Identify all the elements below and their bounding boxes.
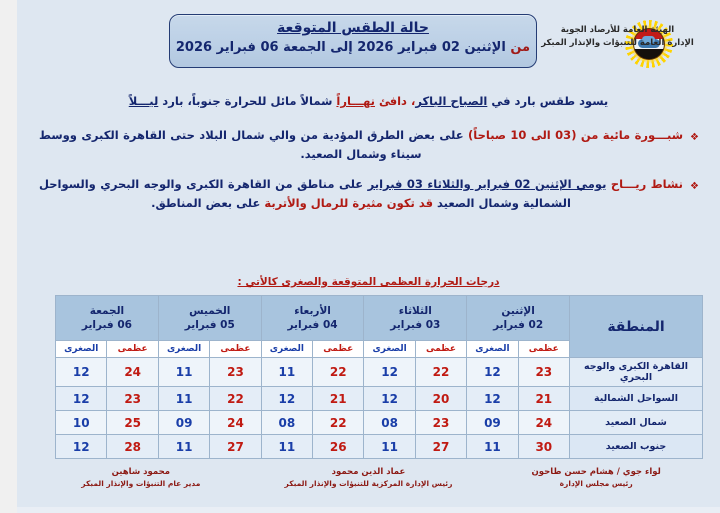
cell-region-0: القاهرة الكبرى والوجه البحري [570, 358, 703, 387]
document-header: الهيئة العامة للأرصاد الجوية الإدارة الع… [17, 0, 720, 84]
signature-general-manager: محمود شاهين مدير عام التنبؤات والإنذار ا… [27, 466, 255, 490]
cell-max-3-4: 28 [107, 435, 158, 459]
subheader-max-0: عظمى [518, 341, 569, 358]
title-box: حالة الطقس المتوقعة من الإثنين 02 فبراير… [169, 14, 537, 68]
table-row: القاهرة الكبرى والوجه البحري 23 12 22 12… [56, 358, 703, 387]
signature-general-manager-role: مدير عام التنبؤات والإنذار المبكر [27, 478, 255, 490]
cell-max-1-4: 23 [107, 387, 158, 411]
table-row: السواحل الشمالية 21 12 20 12 21 12 22 11… [56, 387, 703, 411]
cell-max-0-4: 24 [107, 358, 158, 387]
cell-min-0-2: 11 [261, 358, 312, 387]
temperature-table-wrapper: المنطقة الإثنين 02 فبراير الثلاثاء 03 فب… [55, 295, 703, 459]
cell-region-1: السواحل الشمالية [570, 387, 703, 411]
cell-max-0-3: 23 [210, 358, 261, 387]
cell-min-2-1: 08 [364, 411, 415, 435]
subheader-max-2: عظمى [313, 341, 364, 358]
organization-line-1: الهيئة العامة للأرصاد الجوية [515, 24, 720, 37]
cell-max-0-2: 22 [313, 358, 364, 387]
lead-paragraph: يسود طقس بارد في الصباح الباكر، دافئ نهـ… [17, 92, 720, 110]
signature-central-head-name: عماد الدين محمود [255, 466, 483, 478]
table-row: جنوب الصعيد 30 11 27 11 26 11 27 11 28 1… [56, 435, 703, 459]
organization-line-2: الإدارة العامة للتنبؤات والإنذار المبكر [515, 37, 720, 50]
bullet-wind-tail: على بعض المناطق. [151, 196, 260, 210]
lead-seg-3: في [491, 94, 510, 108]
cell-max-1-1: 20 [415, 387, 466, 411]
lead-seg-7: شمالاً مائل للحرارة جنوباً، بارد [162, 94, 332, 108]
cell-min-0-3: 11 [158, 358, 209, 387]
day-name-2: الأربعاء [263, 304, 363, 318]
subheader-max-1: عظمى [415, 341, 466, 358]
cell-min-3-2: 11 [261, 435, 312, 459]
lead-seg-2: بارد [515, 94, 536, 108]
date-range-from: من [510, 40, 530, 55]
lead-seg-8: ليـــلاً [129, 94, 159, 108]
subheader-min-2: الصغرى [261, 341, 312, 358]
lead-seg-6: نهـــاراً [336, 94, 375, 108]
table-day-header-row: المنطقة الإثنين 02 فبراير الثلاثاء 03 فب… [56, 296, 703, 341]
footer-signatures: لواء جوي / هشام حسن طاحون رئيس مجلس الإد… [27, 466, 710, 490]
cell-max-0-1: 22 [415, 358, 466, 387]
signature-chairman-name: لواء جوي / هشام حسن طاحون [482, 466, 710, 478]
column-header-day-2: الأربعاء 04 فبراير [261, 296, 364, 341]
column-header-day-0: الإثنين 02 فبراير [467, 296, 570, 341]
subheader-max-4: عظمى [107, 341, 158, 358]
lead-seg-5: ، دافئ [379, 94, 415, 108]
day-name-4: الجمعة [57, 304, 157, 318]
organization-name: الهيئة العامة للأرصاد الجوية الإدارة الع… [515, 24, 720, 50]
lead-seg-1: يسود طقس [540, 94, 609, 108]
bullet-item-fog: ❖ شبـــورة مائية من (03 الى 10 صباحاً) ع… [39, 126, 699, 164]
cell-min-0-4: 12 [56, 358, 107, 387]
day-date-2: 04 فبراير [263, 318, 363, 332]
page-bottom-strip [17, 507, 720, 513]
bullet-wind-highlight: نشاط ريـــاح [611, 177, 683, 191]
cell-min-1-2: 12 [261, 387, 312, 411]
cell-min-1-4: 12 [56, 387, 107, 411]
cell-min-1-0: 12 [467, 387, 518, 411]
cell-min-3-3: 11 [158, 435, 209, 459]
cell-max-1-3: 22 [210, 387, 261, 411]
column-header-day-1: الثلاثاء 03 فبراير [364, 296, 467, 341]
bullet-fog-text: على بعض الطرق المؤدية من والي شمال البلا… [39, 128, 464, 161]
day-name-3: الخميس [160, 304, 260, 318]
cell-min-3-4: 12 [56, 435, 107, 459]
day-name-1: الثلاثاء [365, 304, 465, 318]
day-date-0: 02 فبراير [468, 318, 568, 332]
cell-max-2-1: 23 [415, 411, 466, 435]
bullet-wind-warning: قد تكون مثيرة للرمال والأتربة [264, 196, 433, 210]
subheader-min-1: الصغرى [364, 341, 415, 358]
cell-min-2-3: 09 [158, 411, 209, 435]
cell-max-3-3: 27 [210, 435, 261, 459]
bullet-item-wind: ❖ نشاط ريـــاح يومي الإثنين 02 فبراير وا… [39, 175, 699, 213]
cell-min-1-1: 12 [364, 387, 415, 411]
date-range-subtitle: من الإثنين 02 فبراير 2026 إلى الجمعة 06 … [170, 40, 536, 55]
subheader-max-3: عظمى [210, 341, 261, 358]
cell-max-2-4: 25 [107, 411, 158, 435]
cell-max-3-0: 30 [518, 435, 569, 459]
bullet-list: ❖ شبـــورة مائية من (03 الى 10 صباحاً) ع… [39, 126, 699, 224]
cell-max-0-0: 23 [518, 358, 569, 387]
page-title: حالة الطقس المتوقعة [170, 20, 536, 36]
diamond-bullet-icon: ❖ [690, 128, 699, 147]
column-header-day-4: الجمعة 06 فبراير [56, 296, 159, 341]
day-date-3: 05 فبراير [160, 318, 260, 332]
document-page: الهيئة العامة للأرصاد الجوية الإدارة الع… [0, 0, 720, 513]
subheader-min-3: الصغرى [158, 341, 209, 358]
cell-region-2: شمال الصعيد [570, 411, 703, 435]
cell-max-3-2: 26 [313, 435, 364, 459]
cell-max-2-2: 22 [313, 411, 364, 435]
cell-min-0-1: 12 [364, 358, 415, 387]
cell-region-3: جنوب الصعيد [570, 435, 703, 459]
day-date-1: 03 فبراير [365, 318, 465, 332]
cell-min-2-0: 09 [467, 411, 518, 435]
bullet-fog-highlight: شبـــورة مائية من (03 الى 10 صباحاً) [468, 128, 683, 142]
column-header-day-3: الخميس 05 فبراير [158, 296, 261, 341]
signature-chairman-role: رئيس مجلس الإدارة [482, 478, 710, 490]
column-header-region: المنطقة [570, 296, 703, 358]
signature-central-head: عماد الدين محمود رئيس الإدارة المركزية ل… [255, 466, 483, 490]
cell-min-2-2: 08 [261, 411, 312, 435]
subheader-min-4: الصغرى [56, 341, 107, 358]
signature-chairman: لواء جوي / هشام حسن طاحون رئيس مجلس الإد… [482, 466, 710, 490]
temperature-table-body: القاهرة الكبرى والوجه البحري 23 12 22 12… [56, 358, 703, 459]
day-date-4: 06 فبراير [57, 318, 157, 332]
temperature-table-head: المنطقة الإثنين 02 فبراير الثلاثاء 03 فب… [56, 296, 703, 358]
cell-min-1-3: 11 [158, 387, 209, 411]
diamond-bullet-icon: ❖ [690, 177, 699, 196]
signature-central-head-role: رئيس الإدارة المركزية للتنبؤات والإنذار … [255, 478, 483, 490]
document-sheet: الهيئة العامة للأرصاد الجوية الإدارة الع… [17, 0, 720, 507]
cell-max-3-1: 27 [415, 435, 466, 459]
cell-min-3-0: 11 [467, 435, 518, 459]
lead-seg-4: الصباح الباكر [415, 94, 487, 108]
cell-min-3-1: 11 [364, 435, 415, 459]
temperature-table: المنطقة الإثنين 02 فبراير الثلاثاء 03 فب… [55, 295, 703, 459]
cell-max-2-3: 24 [210, 411, 261, 435]
day-name-0: الإثنين [468, 304, 568, 318]
bullet-wind-dates: يومي الإثنين 02 فبراير والثلاثاء 03 فبرا… [368, 177, 607, 191]
cell-max-1-2: 21 [313, 387, 364, 411]
signature-general-manager-name: محمود شاهين [27, 466, 255, 478]
subheader-min-0: الصغرى [467, 341, 518, 358]
cell-max-1-0: 21 [518, 387, 569, 411]
table-row: شمال الصعيد 24 09 23 08 22 08 24 09 25 1… [56, 411, 703, 435]
cell-min-0-0: 12 [467, 358, 518, 387]
date-range-rest: الإثنين 02 فبراير 2026 إلى الجمعة 06 فبر… [176, 40, 506, 55]
cell-min-2-4: 10 [56, 411, 107, 435]
temperature-table-caption: درجات الحرارة العظمى المتوقعة والصغرى كا… [17, 276, 720, 288]
cell-max-2-0: 24 [518, 411, 569, 435]
logo-black-band [634, 49, 664, 59]
